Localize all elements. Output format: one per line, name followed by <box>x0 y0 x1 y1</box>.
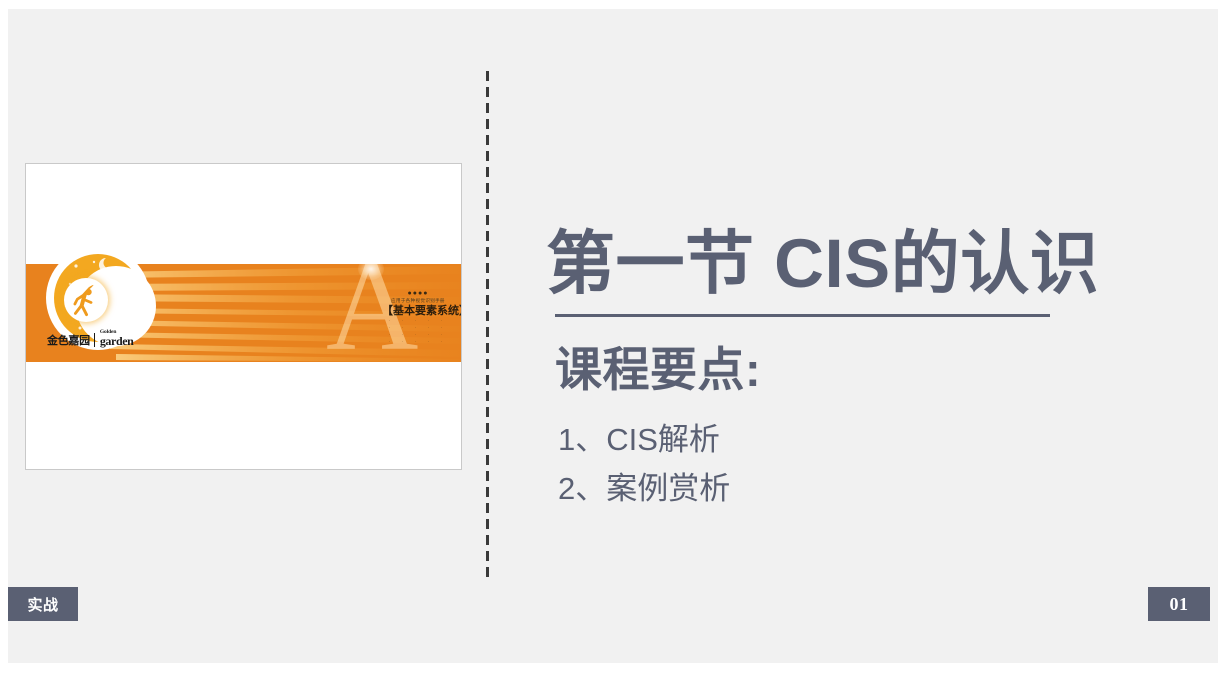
dot-grid-row: · · · · · <box>382 339 454 346</box>
thumbnail-main-label: 【基本要素系统】 <box>382 305 454 318</box>
dashed-vertical-divider <box>486 71 489 583</box>
title-underline-rule <box>555 314 1050 317</box>
slide-frame: A ●●●● 应用于各种视觉识别手册 【基本要素系统】 · · · · · · … <box>0 0 1226 690</box>
logo-divider <box>94 333 95 347</box>
footer-tag-label: 实战 <box>27 594 58 615</box>
label-dots-decoration: ●●●● <box>382 290 454 297</box>
list-item: 2、案例赏析 <box>558 464 730 513</box>
course-points-list: 1、CIS解析 2、案例赏析 <box>558 415 730 513</box>
logo-dancer-figure <box>64 278 108 322</box>
logo-name-en-bottom: garden <box>100 335 134 347</box>
dot-grid-row: · · · · · <box>382 325 454 332</box>
thumbnail-sub-label: 应用于各种视觉识别手册 <box>382 298 454 304</box>
footer-tag-badge: 实战 <box>8 587 78 621</box>
dot-grid-row: · · · · · <box>382 332 454 339</box>
golden-garden-logo: 金色嘉园 Golden garden <box>46 246 156 356</box>
logo-wordmark: 金色嘉园 Golden garden <box>47 330 159 347</box>
dot-grid-row: · · · · · <box>382 318 454 325</box>
page-title: 第一节 CIS的认识 <box>546 223 1099 305</box>
logo-name-en: Golden garden <box>100 330 134 347</box>
thumbnail-card[interactable]: A ●●●● 应用于各种视觉识别手册 【基本要素系统】 · · · · · · … <box>25 163 462 470</box>
section-subtitle: 课程要点: <box>555 341 761 399</box>
logo-name-cn: 金色嘉园 <box>47 335 90 347</box>
thumbnail-label-block: ●●●● 应用于各种视觉识别手册 【基本要素系统】 · · · · · · · … <box>382 290 454 346</box>
page-number-label: 01 <box>1170 594 1189 615</box>
page-number-badge: 01 <box>1148 587 1210 621</box>
list-item: 1、CIS解析 <box>558 415 730 464</box>
slide-canvas: A ●●●● 应用于各种视觉识别手册 【基本要素系统】 · · · · · · … <box>8 9 1218 663</box>
